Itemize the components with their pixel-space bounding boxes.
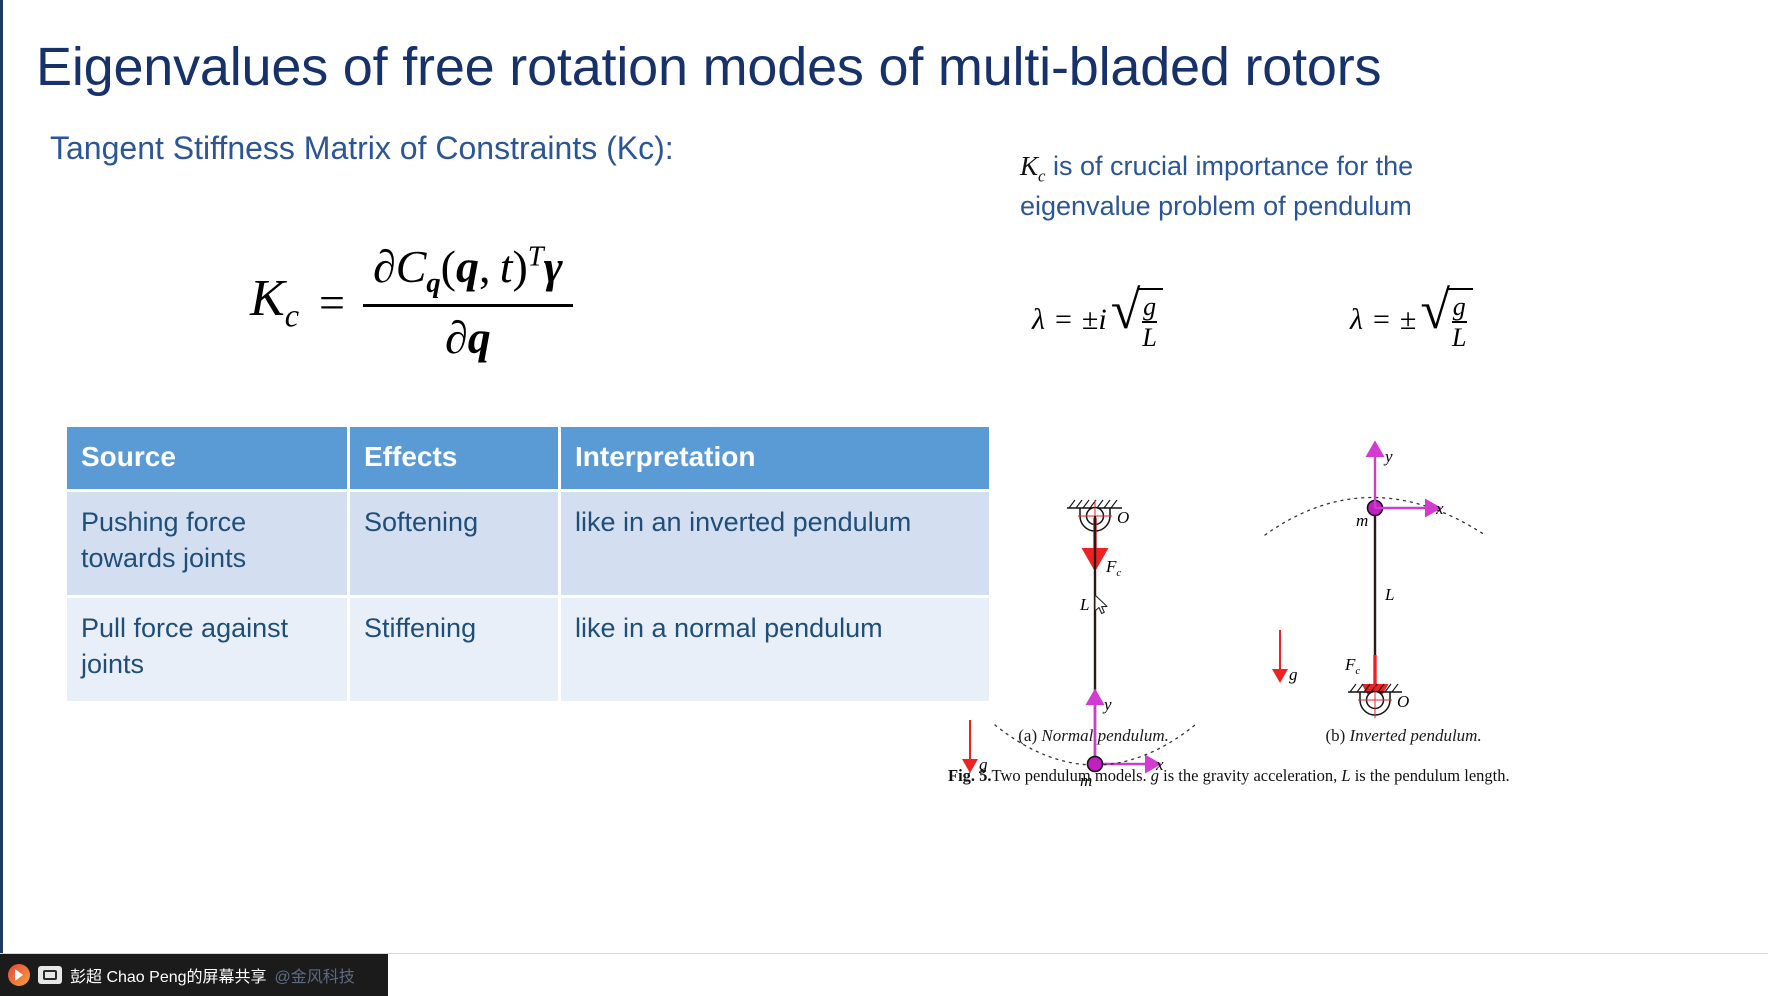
formula-lhs: Kc (250, 269, 299, 334)
radicand-denominator: L (1142, 324, 1156, 351)
mass-label-b: m (1356, 511, 1368, 530)
constraint-force-label-a: Fc (1105, 557, 1121, 579)
kc-symbol: Kc (1020, 151, 1045, 181)
equals-sign: = (1055, 303, 1072, 337)
axis-y-label-b: y (1383, 447, 1393, 466)
pendulum-figure: O Fc L y x m g (940, 430, 1560, 810)
radical-glyph: √ (1111, 288, 1141, 352)
app-logo-icon (8, 964, 30, 986)
formula-equals-sign: = (319, 276, 345, 329)
normal-pendulum-group: O Fc L y x m g (970, 500, 1195, 790)
normal-pendulum-eigenvalue: λ = ± i √ g L (1032, 288, 1163, 352)
tangent-stiffness-formula: Kc = ∂Cq(q, t)Tγ ∂q (250, 240, 573, 364)
subcaption-a: (a) Normal pendulum. (1018, 726, 1169, 746)
pivot-label-b: O (1397, 692, 1409, 711)
figure-note: Fig. 5.Two pendulum models. g is the gra… (948, 765, 1548, 786)
subcaption-b: (b) Inverted pendulum. (1325, 726, 1481, 746)
gravity-label-b: g (1289, 665, 1298, 684)
share-owner-label: 彭超 Chao Peng的屏幕共享 (70, 963, 267, 987)
imaginary-unit: i (1098, 303, 1106, 337)
share-org-tag: @金风科技 (275, 963, 355, 987)
inverted-pendulum-eigenvalue: λ = ± √ g L (1350, 288, 1473, 352)
screen-share-indicator[interactable]: 彭超 Chao Peng的屏幕共享 @金风科技 (0, 954, 388, 996)
constraint-force-label-b: Fc (1344, 655, 1360, 677)
cell-interpretation: like in a normal pendulum (561, 598, 989, 701)
section-subtitle: Tangent Stiffness Matrix of Constraints … (50, 130, 674, 167)
inverted-pendulum-group: L m y x Fc (1265, 447, 1485, 718)
table-header-interpretation: Interpretation (561, 427, 989, 489)
equals-sign: = (1373, 303, 1390, 337)
pendulum-diagram-svg: O Fc L y x m g (940, 430, 1560, 810)
cell-interpretation: like in an inverted pendulum (561, 492, 989, 595)
table-header-effects: Effects (350, 427, 558, 489)
square-root: √ g L (1420, 288, 1472, 352)
axis-y-label-a: y (1102, 695, 1112, 714)
table-row: Pull force against joints Stiffening lik… (67, 598, 989, 701)
length-label-b: L (1384, 585, 1394, 604)
plus-minus-sign: ± (1400, 303, 1416, 337)
pivot-label-a: O (1117, 508, 1129, 527)
table-header-source: Source (67, 427, 347, 489)
figure-subcaptions: (a) Normal pendulum. (b) Inverted pendul… (940, 726, 1560, 746)
kc-importance-note: Kc is of crucial importance for the eige… (1020, 148, 1540, 224)
table-row: Pushing force towards joints Softening l… (67, 492, 989, 595)
lambda-symbol: λ (1350, 303, 1363, 337)
taskbar: 彭超 Chao Peng的屏幕共享 @金风科技 (0, 953, 1768, 996)
cell-effects: Softening (350, 492, 558, 595)
formula-denominator: ∂q (435, 307, 501, 364)
formula-numerator: ∂Cq(q, t)Tγ (363, 240, 573, 304)
cell-source: Pull force against joints (67, 598, 347, 701)
table-header-row: Source Effects Interpretation (67, 427, 989, 489)
radicand-denominator: L (1452, 324, 1466, 351)
monitor-icon (38, 966, 62, 984)
figure-number: Fig. 5. (948, 766, 992, 785)
square-root: √ g L (1111, 288, 1163, 352)
lambda-symbol: λ (1032, 303, 1045, 337)
radical-glyph: √ (1420, 288, 1450, 352)
length-label-a: L (1079, 595, 1089, 614)
radicand-numerator: g (1453, 293, 1466, 320)
effects-table: Source Effects Interpretation Pushing fo… (64, 424, 992, 704)
radicand-numerator: g (1143, 293, 1156, 320)
slide-left-accent-rule (0, 0, 3, 960)
cell-effects: Stiffening (350, 598, 558, 701)
cell-source: Pushing force towards joints (67, 492, 347, 595)
page-title: Eigenvalues of free rotation modes of mu… (36, 36, 1736, 98)
plus-minus-sign: ± (1082, 303, 1098, 337)
axis-x-label-b: x (1435, 499, 1444, 518)
formula-fraction: ∂Cq(q, t)Tγ ∂q (363, 240, 573, 364)
kc-note-text: is of crucial importance for the eigenva… (1020, 151, 1413, 221)
